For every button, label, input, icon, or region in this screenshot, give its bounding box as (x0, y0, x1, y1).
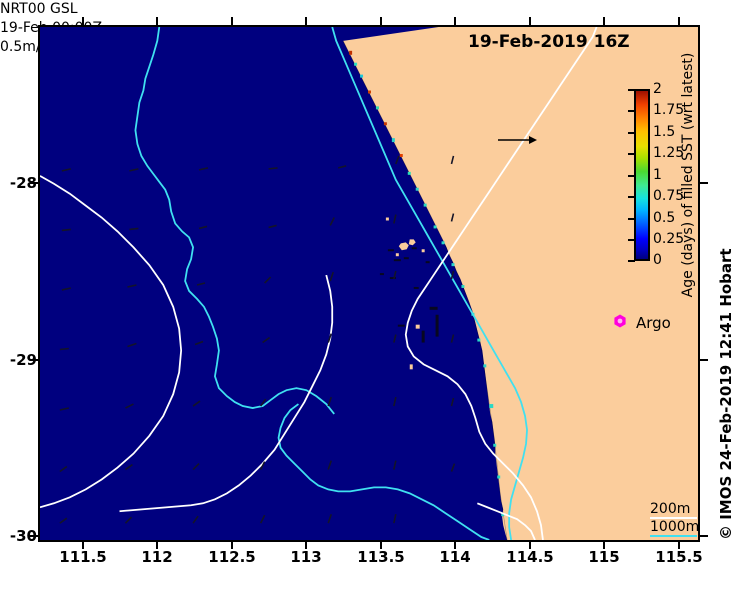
map-title: 19-Feb-2019 16Z (468, 32, 630, 52)
reference-arrow-icon (497, 131, 539, 150)
colorbar-tick (628, 132, 635, 134)
depth-legend-label: 200m (650, 501, 690, 517)
colorbar-tick (628, 239, 635, 241)
x-tick-top (529, 17, 531, 25)
argo-float-marker-icon (613, 313, 627, 332)
depth-legend-label: 1000m (650, 519, 699, 535)
y-tick-right (700, 359, 708, 361)
y-tick-label: -29 (10, 351, 37, 369)
x-tick-top (380, 17, 382, 25)
y-tick-label: -28 (10, 174, 37, 192)
x-tick-label: 112.5 (208, 548, 255, 566)
argo-legend-label: Argo (636, 314, 671, 332)
x-tick-top (454, 17, 456, 25)
x-tick-top (156, 17, 158, 25)
map-plot-area[interactable]: 19-Feb-2019 16Z (38, 25, 700, 542)
x-tick-label: 113 (290, 548, 321, 566)
colorbar-tick (628, 218, 635, 220)
depth-legend-row-200m: 200m (650, 500, 699, 518)
colorbar-title: Age (days) of filled SST (wrt latest) (680, 53, 696, 298)
colorbar-tick (628, 153, 635, 155)
x-tick-label: 115.5 (655, 548, 702, 566)
x-tick-label: 114.5 (506, 548, 553, 566)
colorbar-tick-label: 2 (653, 81, 662, 97)
depth-contour-legend: 200m 1000m (650, 500, 699, 536)
depth-legend-row-1000m: 1000m (650, 518, 699, 536)
y-tick-label: -30 (10, 527, 37, 545)
argo-legend: Argo (613, 313, 671, 332)
x-tick-label: 114 (439, 548, 470, 566)
colorbar-tick-label: 1.5 (653, 124, 675, 140)
y-tick-right (700, 182, 708, 184)
colorbar-tick (628, 260, 635, 262)
x-tick-top (82, 17, 84, 25)
colorbar-gradient (634, 89, 650, 261)
x-tick-label: 111.5 (59, 548, 106, 566)
map-figure: 19-Feb-2019 16Z 111.5 112 112.5 113 113.… (0, 0, 739, 592)
x-tick-top (231, 17, 233, 25)
depth-1000m-rule (650, 535, 697, 537)
x-tick-label: 113.5 (357, 548, 404, 566)
credit-text: © IMOS 24-Feb-2019 12:41 Hobart (717, 248, 735, 540)
y-tick-right (700, 535, 708, 537)
colorbar-tick (628, 89, 635, 91)
current-annotation-source: NRT00 GSL (0, 0, 739, 19)
colorbar-tick (628, 110, 635, 112)
x-tick-top (678, 17, 680, 25)
x-tick-label: 115 (588, 548, 619, 566)
x-tick-top (305, 17, 307, 25)
map-canvas (40, 27, 698, 540)
colorbar-tick (628, 175, 635, 177)
colorbar-tick-label: 0 (653, 252, 662, 268)
colorbar-tick-label: 0.5 (653, 210, 675, 226)
x-tick-top (603, 17, 605, 25)
x-tick-label: 112 (141, 548, 172, 566)
colorbar-tick (628, 196, 635, 198)
colorbar-tick-label: 1 (653, 167, 662, 183)
